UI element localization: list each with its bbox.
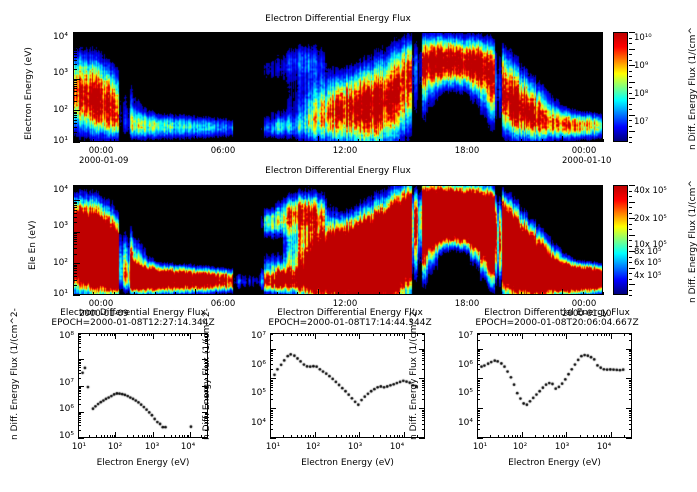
xtick-mark [402, 435, 403, 438]
top-xtick-4: 00:00 [562, 146, 606, 156]
xtick-mark [315, 333, 316, 339]
ytick-mark [205, 416, 208, 417]
ytick-mark [73, 57, 77, 58]
ytick-mark [477, 350, 480, 351]
ytick-mark [73, 80, 77, 81]
xtick-mark [490, 435, 491, 438]
s1-ytick-0: 10⁵ [36, 431, 74, 441]
ytick-mark [73, 270, 77, 271]
ytick-mark [73, 115, 77, 116]
ytick-mark [477, 394, 480, 395]
ytick-mark [78, 404, 81, 405]
top-xtick-1: 06:00 [201, 146, 245, 156]
ytick-mark [629, 355, 632, 356]
top-spectrogram-canvas [74, 33, 602, 141]
xtick-mark [515, 435, 516, 438]
ytick-mark [422, 364, 425, 365]
ytick-mark [205, 360, 208, 361]
ytick-mark [78, 339, 81, 340]
ytick-mark [73, 38, 77, 39]
top-colorbar [613, 32, 628, 142]
ytick-mark [78, 396, 81, 397]
xtick-mark [341, 333, 342, 336]
ytick-mark [205, 393, 208, 394]
ytick-mark [477, 410, 480, 411]
ytick-mark [73, 295, 80, 296]
ytick-mark [205, 413, 208, 414]
ytick-mark [73, 205, 77, 206]
ytick-mark [270, 410, 273, 411]
ytick-mark [422, 383, 425, 384]
ytick-mark [270, 438, 276, 439]
xtick-mark [358, 292, 359, 295]
spectrum-1-subtitle: EPOCH=2000-01-08T12:27:14.344Z [38, 318, 228, 328]
xtick-mark [190, 333, 191, 339]
ytick-mark [270, 380, 273, 381]
xtick-mark [508, 435, 509, 438]
xtick-mark [603, 139, 604, 142]
ytick-mark [73, 127, 77, 128]
ytick-mark [422, 355, 425, 356]
colorbar-tick-mark [629, 240, 632, 241]
ytick-mark [78, 341, 81, 342]
ytick-mark [422, 353, 425, 354]
xtick-mark [114, 292, 115, 295]
xtick-mark [380, 333, 381, 336]
xtick-mark [115, 432, 116, 438]
xtick-mark [404, 333, 405, 339]
ytick-mark [73, 248, 77, 249]
xtick-mark [133, 333, 134, 336]
s3-xtick-1: 10² [505, 442, 535, 452]
ytick-mark [78, 360, 81, 361]
ytick-mark [477, 438, 483, 439]
middle-colorbar-label: n Diff. Energy Flux (1/(cm^ [688, 180, 697, 303]
ytick-mark [78, 418, 81, 419]
xtick-mark [149, 435, 150, 438]
spectrum-1-plot-area [78, 333, 208, 438]
ytick-mark [78, 413, 81, 414]
xtick-mark [310, 333, 311, 336]
xtick-mark [179, 435, 180, 438]
xtick-mark [147, 333, 148, 336]
xtick-mark [556, 435, 557, 438]
ytick-mark [270, 429, 273, 430]
spectrum-3-plot-area [477, 333, 632, 438]
colorbar-tick-mark [629, 109, 632, 110]
top-colorbar-tick-2: 10⁹ [634, 61, 648, 71]
mid-ytick-2: 10³ [30, 221, 68, 231]
colorbar-tick-mark [629, 191, 632, 192]
ytick-mark [73, 50, 77, 51]
ytick-mark [270, 420, 273, 421]
ytick-mark [205, 418, 208, 419]
colorbar-tick-mark [629, 257, 632, 258]
xtick-mark [587, 435, 588, 438]
ytick-mark [73, 49, 77, 50]
ytick-mark [270, 415, 273, 416]
xtick-mark [548, 435, 549, 438]
ytick-mark [78, 362, 81, 363]
spectrum-3-xlabel: Electron Energy (eV) [477, 458, 632, 468]
ytick-mark [270, 340, 273, 341]
xtick-mark [358, 139, 359, 142]
ytick-mark [73, 113, 77, 114]
xtick-mark [399, 139, 400, 142]
xtick-mark [490, 333, 491, 336]
spectrum-1-canvas [79, 334, 207, 437]
xtick-mark [171, 333, 172, 336]
ytick-mark [270, 383, 273, 384]
colorbar-tick-mark [629, 65, 635, 66]
ytick-mark [419, 378, 425, 379]
xtick-mark [397, 333, 398, 336]
xtick-mark [101, 435, 102, 438]
xtick-mark [498, 435, 499, 438]
xtick-mark [481, 292, 482, 295]
mid-ytick-0: 10¹ [30, 289, 68, 299]
s2-ytick-2: 10⁶ [228, 360, 266, 370]
ytick-mark [205, 391, 208, 392]
xtick-mark [305, 435, 306, 438]
ytick-mark [477, 351, 480, 352]
xtick-mark [175, 435, 176, 438]
ytick-mark [477, 390, 480, 391]
xtick-mark [297, 435, 298, 438]
ytick-mark [73, 237, 77, 238]
xtick-mark [399, 333, 400, 336]
xtick-mark [587, 333, 588, 336]
ytick-mark [629, 380, 632, 381]
s3-ytick-1: 10⁵ [435, 388, 473, 398]
ytick-mark [419, 438, 425, 439]
xtick-mark [580, 333, 581, 336]
ytick-mark [422, 387, 425, 388]
ytick-mark [629, 358, 632, 359]
xtick-mark [256, 139, 257, 142]
xtick-mark [440, 136, 441, 142]
colorbar-tick-mark [629, 224, 632, 225]
ytick-mark [270, 355, 273, 356]
ytick-mark [205, 420, 208, 421]
ytick-mark [422, 380, 425, 381]
colorbar-tick-mark [629, 235, 635, 236]
xtick-mark [355, 333, 356, 336]
xtick-mark [481, 139, 482, 142]
colorbar-tick-mark [629, 185, 635, 186]
ytick-mark [73, 239, 77, 240]
s3-xtick-0: 10¹ [465, 442, 495, 452]
ytick-mark [270, 390, 273, 391]
colorbar-tick-mark [629, 142, 632, 143]
xtick-mark [603, 292, 604, 295]
colorbar-tick-mark [629, 213, 632, 214]
ytick-mark [78, 393, 81, 394]
ytick-mark [73, 266, 77, 267]
xtick-mark [609, 435, 610, 438]
xtick-mark [134, 139, 135, 142]
ytick-mark [205, 425, 208, 426]
xtick-mark [305, 333, 306, 336]
xtick-mark [564, 333, 565, 336]
ytick-mark [477, 383, 480, 384]
xtick-mark [517, 333, 518, 336]
xtick-mark [460, 292, 461, 295]
ytick-mark [629, 387, 632, 388]
ytick-mark [78, 422, 81, 423]
middle-spectrogram-plot-area [73, 185, 603, 295]
xtick-mark [184, 435, 185, 438]
ytick-mark [78, 399, 81, 400]
ytick-mark [422, 417, 425, 418]
ytick-mark [629, 411, 632, 412]
xtick-mark [543, 435, 544, 438]
xtick-mark [96, 435, 97, 438]
ytick-mark [73, 273, 77, 274]
s3-ytick-0: 10⁴ [435, 418, 473, 428]
ytick-mark [78, 412, 84, 413]
xtick-mark [155, 292, 156, 295]
ytick-mark [270, 381, 273, 382]
ytick-mark [73, 91, 77, 92]
xtick-mark [291, 333, 292, 336]
ytick-mark [205, 341, 208, 342]
ytick-mark [477, 399, 480, 400]
ytick-mark [422, 429, 425, 430]
ytick-mark [205, 337, 208, 338]
ytick-mark [477, 380, 480, 381]
xtick-mark [171, 435, 172, 438]
ytick-mark [73, 265, 77, 266]
xtick-mark [460, 139, 461, 142]
xtick-mark [341, 435, 342, 438]
ytick-mark [270, 408, 276, 409]
ytick-mark [73, 233, 77, 234]
ytick-mark [73, 210, 77, 211]
xtick-mark [553, 333, 554, 336]
xtick-mark [73, 136, 74, 142]
xtick-mark [512, 333, 513, 336]
xtick-mark [601, 333, 602, 336]
s1-xtick-3: 10⁴ [173, 442, 203, 452]
top-ytick-3: 10⁴ [30, 32, 68, 42]
xtick-mark [175, 139, 176, 142]
ytick-mark [629, 420, 632, 421]
xtick-mark [127, 435, 128, 438]
xtick-mark [501, 139, 502, 142]
ytick-mark [78, 347, 81, 348]
xtick-mark [566, 333, 567, 339]
ytick-mark [73, 110, 80, 111]
xtick-mark [379, 292, 380, 295]
xtick-mark [313, 435, 314, 438]
xtick-mark [301, 435, 302, 438]
ytick-mark [205, 373, 208, 374]
xtick-mark [155, 139, 156, 142]
s1-ytick-2: 10⁷ [36, 378, 74, 388]
ytick-mark [205, 430, 208, 431]
ytick-mark [629, 383, 632, 384]
xtick-mark [138, 333, 139, 336]
ytick-mark [270, 351, 273, 352]
ytick-mark [270, 364, 273, 365]
spectrum-1-ylabel: n Diff. Energy Flux (1/(cm^2- [10, 308, 20, 440]
spectrum-1-title: Electron Differential Energy Flux [38, 308, 228, 318]
xtick-mark [562, 435, 563, 438]
xtick-mark [188, 333, 189, 336]
xtick-mark [291, 435, 292, 438]
ytick-mark [629, 417, 632, 418]
xtick-mark [404, 432, 405, 438]
xtick-mark [580, 435, 581, 438]
s1-ytick-3: 10⁸ [36, 331, 74, 341]
xtick-mark [522, 432, 523, 438]
ytick-mark [270, 358, 273, 359]
xtick-mark [313, 333, 314, 336]
s2-ytick-1: 10⁵ [228, 388, 266, 398]
s1-ytick-1: 10⁶ [36, 404, 74, 414]
ytick-mark [78, 386, 84, 387]
ytick-mark [629, 424, 632, 425]
colorbar-tick-mark [629, 98, 635, 99]
ytick-mark [73, 241, 77, 242]
ytick-mark [205, 362, 208, 363]
colorbar-tick-mark [629, 268, 635, 269]
xtick-mark [521, 139, 522, 142]
xtick-mark [394, 435, 395, 438]
colorbar-tick-mark [629, 54, 632, 55]
ytick-mark [78, 363, 81, 364]
top-colorbar-label: n Diff. Energy Flux (1/(cm^ [688, 27, 697, 150]
colorbar-tick-mark [629, 251, 635, 252]
xtick-mark [104, 435, 105, 438]
ytick-mark [73, 202, 77, 203]
ytick-mark [629, 340, 632, 341]
colorbar-tick-mark [629, 93, 632, 94]
ytick-mark [78, 378, 81, 379]
xtick-mark [134, 292, 135, 295]
xtick-mark [144, 333, 145, 336]
xtick-mark [597, 333, 598, 336]
ytick-mark [78, 387, 81, 388]
ytick-mark [78, 390, 81, 391]
ytick-mark [629, 410, 632, 411]
ytick-mark [270, 350, 273, 351]
ytick-mark [629, 351, 632, 352]
top-xtick-start-date: 2000-01-09 [79, 156, 123, 166]
xtick-mark [195, 289, 196, 295]
ytick-mark [422, 390, 425, 391]
top-colorbar-tick-3: 10¹⁰ [634, 33, 652, 43]
ytick-mark [422, 350, 425, 351]
xtick-mark [417, 333, 418, 336]
xtick-mark [175, 292, 176, 295]
ytick-mark [202, 386, 208, 387]
xtick-mark [357, 435, 358, 438]
xtick-mark [149, 333, 150, 336]
ytick-mark [270, 360, 273, 361]
ytick-mark [477, 429, 480, 430]
ytick-mark [73, 132, 77, 133]
xtick-mark [522, 333, 523, 339]
xtick-mark [352, 333, 353, 336]
mid-colorbar-tick-2: 8x 10⁵ [634, 247, 661, 257]
ytick-mark [73, 213, 77, 214]
ytick-mark [477, 358, 480, 359]
ytick-mark [477, 415, 480, 416]
colorbar-tick-mark [629, 120, 632, 121]
xtick-mark [216, 139, 217, 142]
xtick-mark [190, 432, 191, 438]
ytick-mark [422, 385, 425, 386]
colorbar-tick-mark [629, 137, 632, 138]
xtick-mark [564, 435, 565, 438]
xtick-mark [593, 435, 594, 438]
top-xtick-end-date: 2000-01-10 [562, 156, 606, 166]
ytick-mark [78, 359, 84, 360]
top-xtick-3: 18:00 [445, 146, 489, 156]
colorbar-tick-mark [629, 229, 632, 230]
spectrum-2-canvas [271, 334, 424, 437]
ytick-mark [270, 424, 273, 425]
ytick-mark [73, 142, 80, 143]
ytick-mark [270, 385, 273, 386]
mid-ytick-1: 10² [30, 258, 68, 268]
s1-xtick-1: 10² [100, 442, 130, 452]
xtick-mark [283, 435, 284, 438]
s2-ytick-0: 10⁴ [228, 418, 266, 428]
mid-colorbar-tick-1: 6x 10⁵ [634, 258, 661, 268]
xtick-mark [355, 435, 356, 438]
ytick-mark [73, 120, 77, 121]
xtick-mark [336, 333, 337, 336]
spectrum-3-ylabel: n Diff. Energy Flux (1/(cm^2- [409, 308, 419, 440]
ytick-mark [73, 217, 77, 218]
ytick-mark [422, 410, 425, 411]
xtick-mark [236, 139, 237, 142]
ytick-mark [477, 334, 480, 335]
top-xtick-0: 00:00 [79, 146, 123, 156]
ytick-mark [270, 353, 273, 354]
xtick-mark [283, 333, 284, 336]
xtick-mark [399, 292, 400, 295]
ytick-mark [205, 336, 208, 337]
ytick-mark [422, 413, 425, 414]
ytick-mark [205, 388, 208, 389]
colorbar-tick-mark [629, 76, 632, 77]
top-xtick-2: 12:00 [323, 146, 367, 156]
colorbar-tick-mark [629, 273, 632, 274]
ytick-mark [78, 336, 81, 337]
ytick-mark [78, 343, 81, 344]
colorbar-tick-mark [629, 279, 632, 280]
ytick-mark [477, 417, 480, 418]
ytick-mark [629, 394, 632, 395]
xtick-mark [112, 435, 113, 438]
ytick-mark [73, 69, 77, 70]
ytick-mark [629, 399, 632, 400]
s1-xtick-0: 10¹ [64, 442, 94, 452]
ytick-mark [270, 378, 276, 379]
ytick-mark [73, 191, 77, 192]
ytick-mark [73, 263, 80, 264]
ytick-mark [73, 235, 77, 236]
ytick-mark [477, 340, 480, 341]
xtick-mark [420, 292, 421, 295]
colorbar-tick-mark [629, 262, 632, 263]
xtick-mark [182, 435, 183, 438]
xtick-mark [89, 333, 90, 336]
